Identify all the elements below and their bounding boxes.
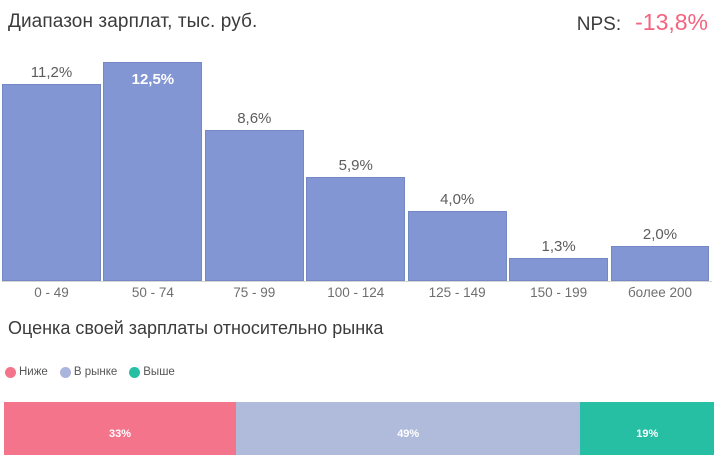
chart-header: Диапазон зарплат, тыс. руб. NPS: -13,8%: [0, 0, 718, 44]
bar-value-label: 5,9%: [306, 157, 405, 174]
bar-column[interactable]: 11,2%: [2, 44, 101, 281]
stacked-bar-segment-label: 33%: [109, 428, 131, 440]
bar-column[interactable]: 1,3%: [509, 44, 608, 281]
section-title: Оценка своей зарплаты относительно рынка: [8, 318, 383, 339]
x-tick-label: 0 - 49: [2, 285, 101, 300]
x-tick-label: 100 - 124: [306, 285, 405, 300]
x-tick-label: 125 - 149: [408, 285, 507, 300]
bar-column[interactable]: 12,5%: [103, 44, 202, 281]
legend-swatch-icon: [60, 367, 71, 378]
bar-value-label: 1,3%: [509, 238, 608, 255]
legend-item[interactable]: Ниже: [5, 366, 48, 378]
bar[interactable]: [205, 130, 304, 281]
nps-value: -13,8%: [635, 9, 708, 36]
nps-block: NPS: -13,8%: [577, 9, 710, 36]
salary-range-bar-chart: 11,2%12,5%8,6%5,9%4,0%1,3%2,0% 0 - 4950 …: [0, 44, 718, 310]
x-tick-label: 50 - 74: [103, 285, 202, 300]
bar-value-label: 12,5%: [103, 71, 202, 88]
bar[interactable]: [2, 84, 101, 281]
x-tick-label: 150 - 199: [509, 285, 608, 300]
legend-label: Ниже: [19, 366, 48, 378]
nps-label: NPS:: [577, 14, 621, 36]
x-tick-label: 75 - 99: [205, 285, 304, 300]
stacked-bar-segment-label: 49%: [397, 428, 419, 440]
bar-column[interactable]: 4,0%: [408, 44, 507, 281]
market-comparison-section: Оценка своей зарплаты относительно рынка…: [0, 318, 718, 455]
bar-column[interactable]: 2,0%: [611, 44, 710, 281]
stacked-bar-segment-label: 19%: [636, 428, 658, 440]
legend-item[interactable]: Выше: [129, 366, 175, 378]
legend-label: В рынке: [74, 366, 117, 378]
stacked-bar-segment[interactable]: 19%: [580, 402, 714, 455]
chart-legend: НижеВ рынкеВыше: [5, 366, 175, 378]
bar[interactable]: [611, 246, 710, 281]
bar-plot-area: 11,2%12,5%8,6%5,9%4,0%1,3%2,0% 0 - 4950 …: [0, 44, 718, 281]
bar[interactable]: [103, 62, 202, 281]
bar-value-label: 11,2%: [2, 64, 101, 81]
x-tick-label: более 200: [611, 285, 710, 300]
legend-item[interactable]: В рынке: [60, 366, 117, 378]
stacked-bar: 33%49%19%: [4, 402, 714, 455]
bar[interactable]: [306, 177, 405, 281]
dashboard-root: Диапазон зарплат, тыс. руб. NPS: -13,8% …: [0, 0, 718, 455]
stacked-bar-segment[interactable]: 33%: [4, 402, 236, 455]
bar-value-label: 8,6%: [205, 110, 304, 127]
bar-value-label: 2,0%: [611, 226, 710, 243]
legend-label: Выше: [143, 366, 175, 378]
bar-column[interactable]: 8,6%: [205, 44, 304, 281]
legend-swatch-icon: [129, 367, 140, 378]
legend-swatch-icon: [5, 367, 16, 378]
stacked-bar-segment[interactable]: 49%: [236, 402, 580, 455]
bar-column[interactable]: 5,9%: [306, 44, 405, 281]
bar[interactable]: [509, 258, 608, 281]
bar-value-label: 4,0%: [408, 191, 507, 208]
bar[interactable]: [408, 211, 507, 281]
page-title: Диапазон зарплат, тыс. руб.: [8, 11, 257, 33]
x-axis-line: [2, 281, 712, 282]
